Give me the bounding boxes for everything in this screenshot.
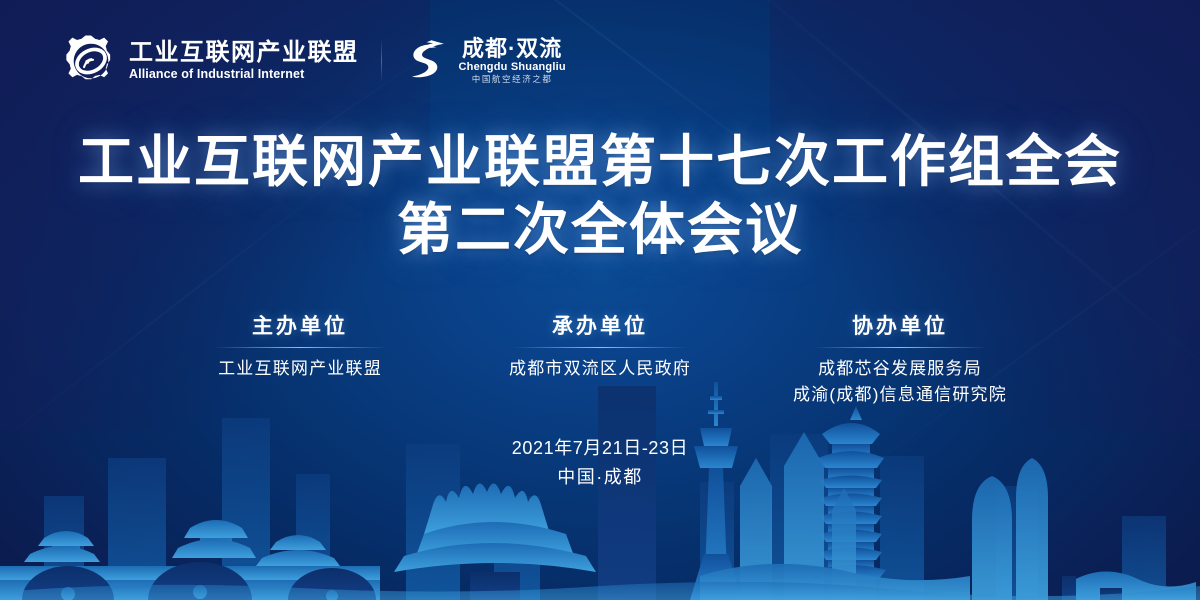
gear-wifi-icon (64, 34, 118, 88)
alliance-name-cn: 工业互联网产业联盟 (129, 41, 359, 65)
title-line-2: 第二次全体会议 (0, 196, 1200, 264)
organizer-name: 工业互联网产业联盟 (218, 356, 382, 382)
shuangliu-name-en: Chengdu Shuangliu (459, 62, 566, 73)
organizers-section: 主办单位 工业互联网产业联盟 承办单位 成都市双流区人民政府 协办单位 成都芯谷… (0, 315, 1200, 409)
event-datetime: 2021年7月21日-23日 中国·成都 (0, 434, 1200, 492)
organizer-name: 成渝(成都)信息通信研究院 (793, 382, 1007, 408)
alliance-name-en: Alliance of Industrial Internet (129, 68, 359, 81)
alliance-logo: 工业互联网产业联盟 Alliance of Industrial Interne… (64, 34, 359, 88)
organizer-role: 承办单位 (552, 315, 648, 338)
page-title: 工业互联网产业联盟第十七次工作组全会 第二次全体会议 (0, 128, 1200, 265)
conference-banner: 工业互联网产业联盟 Alliance of Industrial Interne… (0, 0, 1200, 600)
organizer-column-host: 主办单位 工业互联网产业联盟 (150, 315, 450, 409)
organizer-divider (814, 347, 986, 348)
shuangliu-logo: 成都·双流 Chengdu Shuangliu 中国航空经济之都 (404, 37, 566, 85)
event-location: 中国·成都 (0, 463, 1200, 492)
organizer-divider (214, 347, 386, 348)
title-line-1: 工业互联网产业联盟第十七次工作组全会 (0, 128, 1200, 196)
organizer-role: 主办单位 (252, 315, 348, 338)
organizer-column-coorganizer: 协办单位 成都芯谷发展服务局 成渝(成都)信息通信研究院 (750, 315, 1050, 409)
organizer-name: 成都市双流区人民政府 (509, 356, 691, 382)
organizer-role: 协办单位 (852, 315, 948, 338)
organizer-divider (514, 347, 686, 348)
background-vignette (0, 0, 1200, 600)
s-ribbon-airplane-icon (404, 37, 450, 85)
organizer-column-undertaker: 承办单位 成都市双流区人民政府 (450, 315, 750, 409)
logo-divider (381, 39, 382, 83)
organizer-name: 成都芯谷发展服务局 (818, 356, 982, 382)
shuangliu-name-cn: 成都·双流 (462, 38, 562, 60)
event-date: 2021年7月21日-23日 (0, 434, 1200, 463)
shuangliu-tagline: 中国航空经济之都 (472, 75, 553, 84)
logo-bar: 工业互联网产业联盟 Alliance of Industrial Interne… (64, 34, 566, 88)
